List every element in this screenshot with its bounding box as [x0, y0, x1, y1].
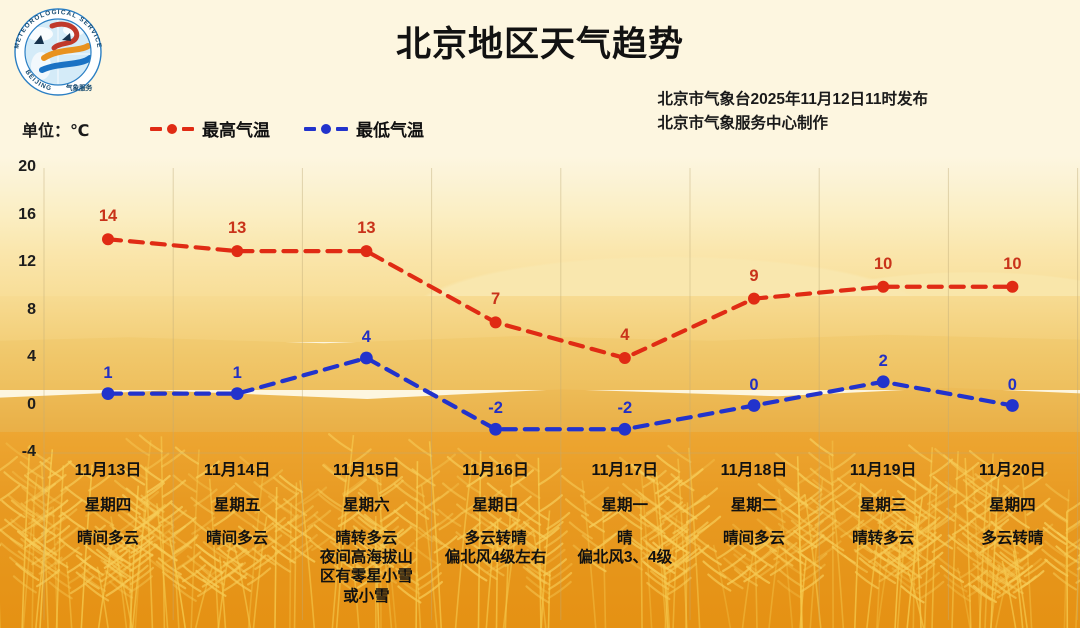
- day-weekday: 星期日: [429, 493, 563, 515]
- issuer-line-1: 北京市气象台2025年11月12日11时发布: [658, 88, 929, 112]
- data-point: [618, 423, 631, 436]
- day-forecast: 晴间多云: [41, 529, 175, 548]
- forecast-line: 晴转多云: [299, 529, 433, 548]
- high-temperature-series: [102, 233, 1018, 364]
- low-temp-label: 4: [336, 328, 396, 347]
- day-date: 11月18日: [687, 462, 821, 480]
- forecast-line: 偏北风3、4级: [558, 548, 692, 567]
- day-weekday: 星期四: [41, 493, 175, 515]
- low-temp-label: -2: [595, 399, 655, 418]
- day-weekday: 星期四: [945, 493, 1079, 515]
- day-date: 11月13日: [41, 462, 175, 480]
- legend-dash-low-2: [336, 127, 348, 131]
- day-weekday: 星期一: [558, 493, 692, 515]
- legend-dot-high: [167, 124, 177, 134]
- day-column: 11月16日星期日多云转晴偏北风4级左右: [429, 462, 563, 567]
- day-forecast: 多云转晴: [945, 529, 1079, 548]
- data-point: [1006, 281, 1018, 293]
- high-temp-label: 13: [336, 219, 396, 238]
- forecast-line: 夜间高海拔山: [299, 548, 433, 567]
- day-column: 11月17日星期一晴偏北风3、4级: [558, 462, 692, 567]
- data-point: [102, 233, 114, 245]
- day-forecast: 晴偏北风3、4级: [558, 529, 692, 568]
- forecast-line: 晴间多云: [170, 529, 304, 548]
- day-forecast: 晴转多云: [816, 529, 950, 548]
- data-point: [102, 387, 115, 400]
- data-point: [360, 245, 372, 257]
- day-date: 11月16日: [429, 462, 563, 480]
- legend-dot-low: [321, 124, 331, 134]
- day-forecast: 多云转晴偏北风4级左右: [429, 529, 563, 568]
- high-temp-label: 13: [207, 219, 267, 238]
- legend-label-low: 最低气温: [356, 116, 424, 141]
- legend-dash-high: [150, 127, 162, 131]
- day-column: 11月15日星期六晴转多云夜间高海拔山区有零星小雪或小雪: [299, 462, 433, 606]
- day-weekday: 星期三: [816, 493, 950, 515]
- y-axis-tick-label: 12: [2, 253, 36, 271]
- day-column: 11月18日星期二晴间多云: [687, 462, 821, 548]
- low-temp-label: 1: [78, 364, 138, 383]
- data-point: [231, 387, 244, 400]
- chart-legend: 最高气温 最低气温: [150, 116, 424, 141]
- day-forecast: 晴转多云夜间高海拔山区有零星小雪或小雪: [299, 529, 433, 607]
- data-point: [877, 281, 889, 293]
- forecast-line: 或小雪: [299, 587, 433, 606]
- legend-item-low: 最低气温: [304, 116, 424, 141]
- day-column: 11月20日星期四多云转晴: [945, 462, 1079, 548]
- low-temp-label: 0: [724, 376, 784, 395]
- legend-dash-low: [304, 127, 316, 131]
- forecast-line: 多云转晴: [429, 529, 563, 548]
- data-point: [231, 245, 243, 257]
- forecast-line: 偏北风4级左右: [429, 548, 563, 567]
- high-temp-label: 10: [982, 255, 1042, 274]
- y-axis-tick-label: 4: [2, 348, 36, 366]
- data-point: [489, 423, 502, 436]
- day-column: 11月19日星期三晴转多云: [816, 462, 950, 548]
- forecast-line: 晴转多云: [816, 529, 950, 548]
- day-column: 11月13日星期四晴间多云: [41, 462, 175, 548]
- day-column: 11月14日星期五晴间多云: [170, 462, 304, 548]
- high-temp-label: 7: [466, 290, 526, 309]
- y-axis-tick-label: 8: [2, 301, 36, 319]
- forecast-line: 多云转晴: [945, 529, 1079, 548]
- data-point: [748, 399, 761, 412]
- y-axis-tick-label: 0: [2, 396, 36, 414]
- low-temp-label: 2: [853, 352, 913, 371]
- page-title: 北京地区天气趋势: [0, 16, 1080, 67]
- unit-label: 单位：℃: [22, 117, 89, 141]
- day-date: 11月17日: [558, 462, 692, 480]
- day-forecast: 晴间多云: [687, 529, 821, 548]
- y-axis-tick-label: 20: [2, 158, 36, 176]
- day-date: 11月19日: [816, 462, 950, 480]
- svg-text:气象服务: 气象服务: [65, 83, 93, 92]
- y-axis-tick-label: -4: [2, 443, 36, 461]
- data-point: [748, 293, 760, 305]
- data-point: [490, 316, 502, 328]
- low-temp-label: 1: [207, 364, 267, 383]
- forecast-line: 晴间多云: [687, 529, 821, 548]
- day-weekday: 星期六: [299, 493, 433, 515]
- high-temp-label: 14: [78, 207, 138, 226]
- y-axis-tick-label: 16: [2, 206, 36, 224]
- day-date: 11月14日: [170, 462, 304, 480]
- legend-dash-high-2: [182, 127, 194, 131]
- day-weekday: 星期二: [687, 493, 821, 515]
- forecast-line: 区有零星小雪: [299, 567, 433, 586]
- legend-label-high: 最高气温: [202, 116, 270, 141]
- data-point: [1006, 399, 1019, 412]
- issuer-info: 北京市气象台2025年11月12日11时发布 北京市气象服务中心制作: [658, 88, 929, 136]
- low-temp-label: -2: [466, 399, 526, 418]
- forecast-line: 晴间多云: [41, 529, 175, 548]
- day-date: 11月20日: [945, 462, 1079, 480]
- data-point: [877, 375, 890, 388]
- legend-item-high: 最高气温: [150, 116, 270, 141]
- day-forecast: 晴间多云: [170, 529, 304, 548]
- day-date: 11月15日: [299, 462, 433, 480]
- forecast-line: 晴: [558, 529, 692, 548]
- low-temp-label: 0: [982, 376, 1042, 395]
- data-point: [360, 352, 373, 365]
- high-temp-label: 10: [853, 255, 913, 274]
- high-temp-label: 9: [724, 267, 784, 286]
- data-point: [619, 352, 631, 364]
- day-weekday: 星期五: [170, 493, 304, 515]
- high-temp-label: 4: [595, 326, 655, 345]
- issuer-line-2: 北京市气象服务中心制作: [658, 112, 929, 136]
